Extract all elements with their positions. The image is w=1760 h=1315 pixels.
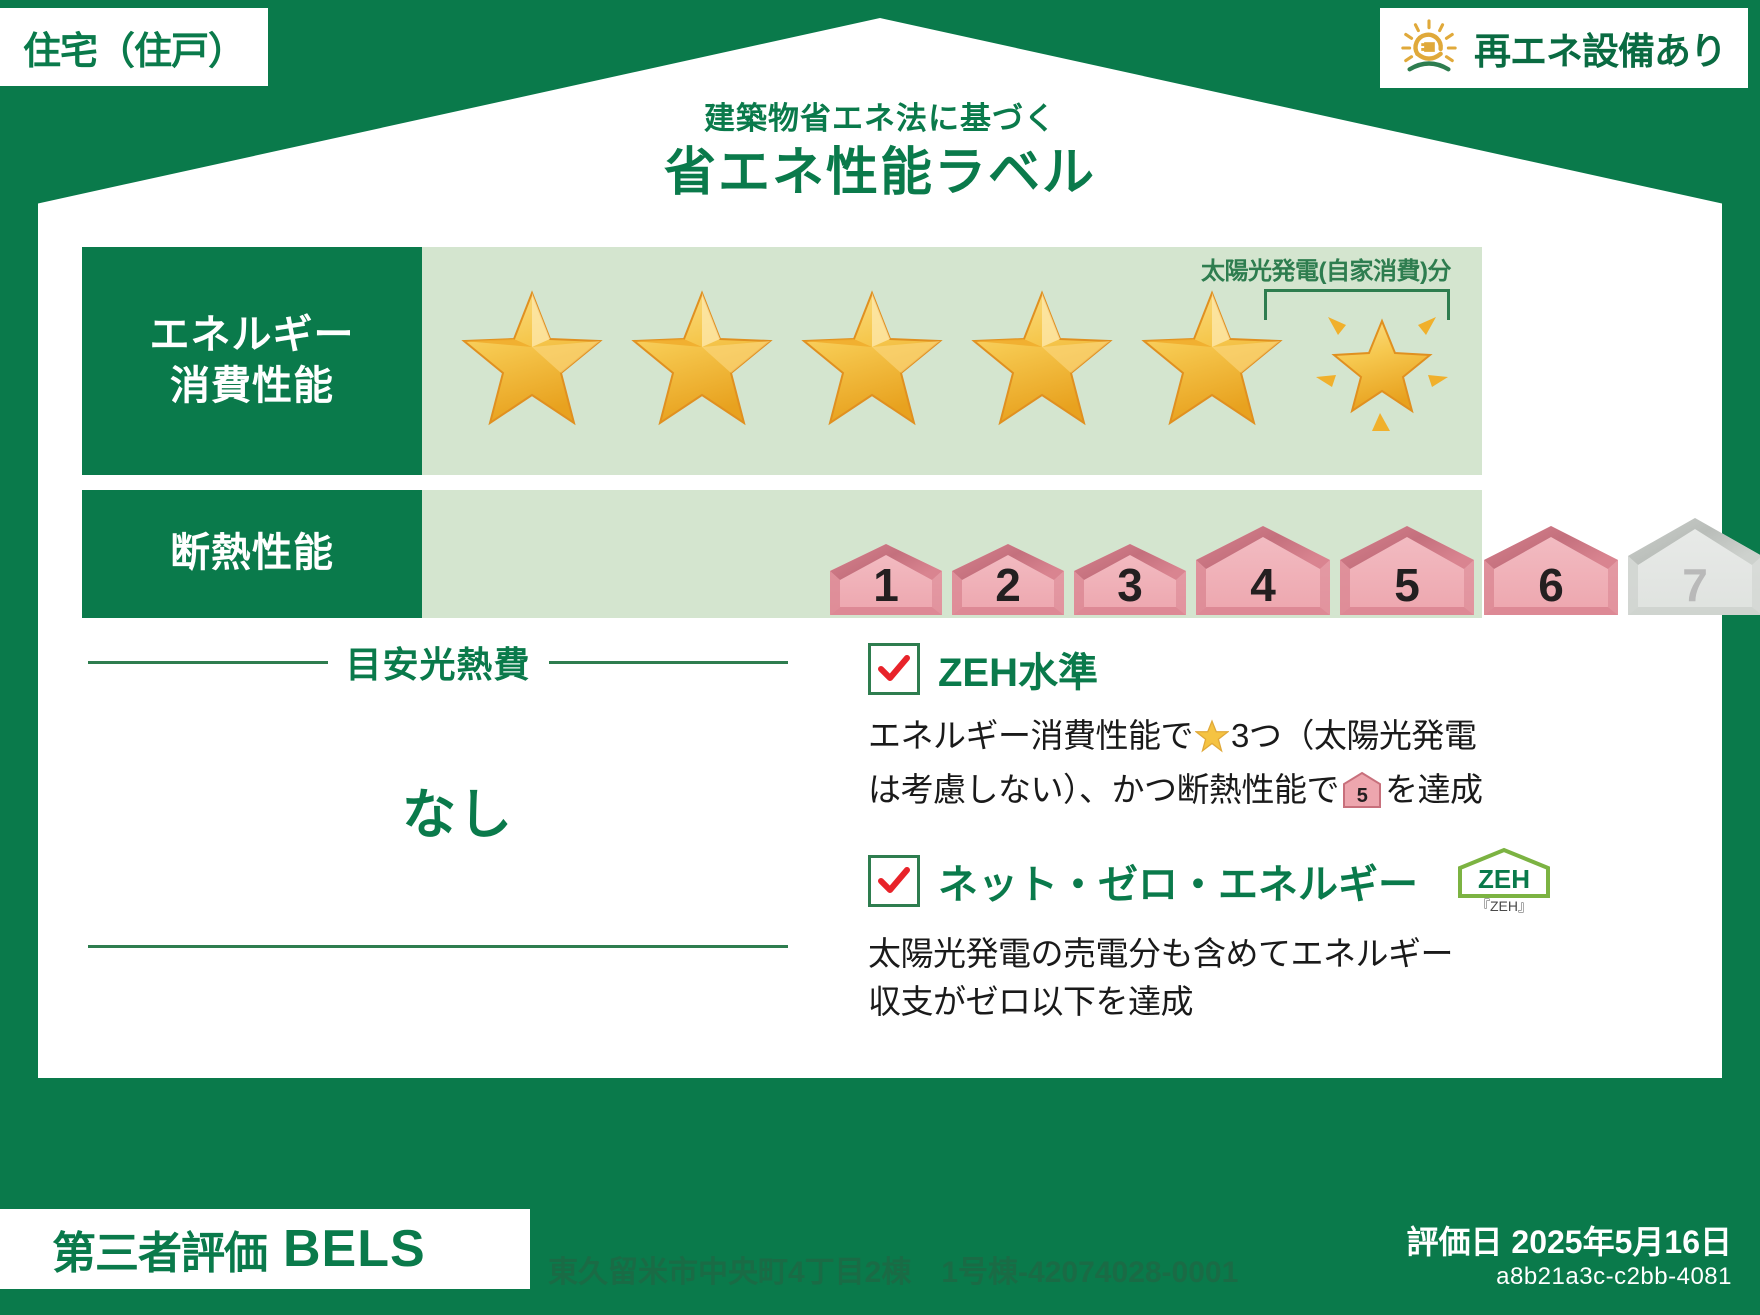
- zeh-standard-row: ZEH水準: [868, 640, 1508, 698]
- utility-cost-bottom-rule: [88, 945, 788, 948]
- star-3: [792, 281, 952, 441]
- net-zero-title: ネット・ゼロ・エネルギー: [938, 852, 1418, 910]
- insulation-level-2: 2: [949, 540, 1067, 618]
- insulation-level-7: 7: [1625, 514, 1760, 618]
- zeh-logo-caption: 『ZEH』: [1476, 896, 1532, 916]
- insulation-level-number: 1: [827, 558, 945, 612]
- net-zero-checkbox[interactable]: [868, 855, 920, 907]
- zeh-desc-line1-a: エネルギー消費性能で: [868, 717, 1193, 754]
- burst-star-icon: [1302, 281, 1462, 441]
- footer: 第三者評価 BELS 東久留米市中央町4丁目2棟 1号棟-42074028-00…: [0, 1165, 1760, 1315]
- zeh-standard-description: エネルギー消費性能で3つ（太陽光発電 は考慮しない）、かつ断熱性能で5を達成: [868, 712, 1508, 822]
- inline-house-badge: 5: [1342, 771, 1382, 822]
- insulation-level-number: 5: [1337, 558, 1477, 612]
- evaluation-date: 評価日 2025年5月16日: [1407, 1217, 1732, 1263]
- property-address: 東久留米市中央町4丁目2棟 1号棟-42074028-0001: [548, 1247, 1238, 1291]
- label-title-block: 建築物省エネ法に基づく 省エネ性能ラベル: [0, 100, 1760, 206]
- bels-label: BELS: [283, 1219, 426, 1279]
- zeh-logo: ZEH 『ZEH』: [1452, 846, 1556, 916]
- energy-label-line1: エネルギー: [150, 310, 355, 361]
- zeh-desc-line2-b: を達成: [1385, 771, 1483, 808]
- utility-cost-value: なし: [88, 770, 788, 849]
- star-1: [452, 281, 612, 441]
- insulation-performance-row: 断熱性能 1234567: [82, 490, 1482, 618]
- net-zero-desc-line1: 太陽光発電の売電分も含めてエネルギー: [868, 935, 1453, 972]
- net-zero-energy-row: ネット・ゼロ・エネルギー ZEH 『ZEH』: [868, 846, 1508, 916]
- zeh-standard-title: ZEH水準: [938, 640, 1098, 698]
- renewable-equipment-badge: 再エネ設備あり: [1380, 8, 1748, 88]
- sun-plug-icon: [1398, 17, 1460, 79]
- page-title: 省エネ性能ラベル: [0, 141, 1760, 206]
- energy-performance-row: エネルギー 消費性能 太陽光発電(自家消費)分: [82, 247, 1482, 475]
- star-icon: [792, 281, 952, 441]
- insulation-performance-label: 断熱性能: [82, 490, 422, 618]
- utility-cost-title: 目安光熱費: [328, 636, 549, 688]
- renewable-badge-label: 再エネ設備あり: [1474, 21, 1726, 75]
- insulation-level-number: 2: [949, 558, 1067, 612]
- solar-bonus-star: [1302, 281, 1462, 441]
- category-badge: 住宅（住戸）: [0, 8, 268, 86]
- star-icon: [622, 281, 782, 441]
- insulation-level-group: 1234567: [442, 490, 1472, 618]
- zeh-criteria-block: ZEH水準 エネルギー消費性能で3つ（太陽光発電 は考慮しない）、かつ断熱性能で…: [868, 640, 1508, 1025]
- utility-cost-header: 目安光熱費: [88, 636, 788, 688]
- insulation-level-1: 1: [827, 540, 945, 618]
- star-4: [962, 281, 1122, 441]
- zeh-desc-line1-b: 3つ（太陽光発電: [1231, 717, 1476, 754]
- bels-badge: 第三者評価 BELS: [0, 1209, 530, 1289]
- star-icon: [1132, 281, 1292, 441]
- insulation-level-number: 4: [1193, 558, 1333, 612]
- zeh-standard-checkbox[interactable]: [868, 643, 920, 695]
- insulation-level-3: 3: [1071, 540, 1189, 618]
- inline-house-number: 5: [1357, 785, 1368, 807]
- star-icon: [452, 281, 612, 441]
- energy-label-line2: 消費性能: [170, 361, 334, 412]
- star-rating-group: [452, 281, 1472, 441]
- insulation-level-4: 4: [1193, 522, 1333, 618]
- insulation-level-number: 6: [1481, 558, 1621, 612]
- insulation-level-6: 6: [1481, 522, 1621, 618]
- star-icon: [962, 281, 1122, 441]
- net-zero-desc-line2: 収支がゼロ以下を達成: [868, 983, 1193, 1020]
- check-icon: [876, 863, 912, 899]
- star-2: [622, 281, 782, 441]
- check-icon: [876, 651, 912, 687]
- insulation-label-text: 断熱性能: [170, 528, 334, 579]
- energy-performance-field: 太陽光発電(自家消費)分: [422, 247, 1482, 475]
- inline-star-icon: [1195, 718, 1229, 766]
- insulation-performance-field: 1234567: [422, 490, 1482, 618]
- divider-right: [549, 661, 789, 664]
- zeh-desc-line2-a: は考慮しない）、かつ断熱性能で: [868, 771, 1339, 808]
- zeh-logo-text: ZEH: [1478, 864, 1530, 894]
- evaluation-id: a8b21a3c-c2bb-4081: [1496, 1263, 1732, 1291]
- utility-cost-block: 目安光熱費 なし: [88, 636, 788, 948]
- category-badge-label: 住宅（住戸）: [23, 20, 245, 75]
- net-zero-description: 太陽光発電の売電分も含めてエネルギー 収支がゼロ以下を達成: [868, 930, 1508, 1026]
- insulation-level-number: 3: [1071, 558, 1189, 612]
- divider-left: [88, 661, 328, 664]
- energy-performance-label: エネルギー 消費性能: [82, 247, 422, 475]
- title-subtitle: 建築物省エネ法に基づく: [0, 100, 1760, 137]
- insulation-level-number: 7: [1625, 558, 1760, 612]
- insulation-level-5: 5: [1337, 522, 1477, 618]
- third-party-label: 第三者評価: [52, 1217, 267, 1281]
- star-5: [1132, 281, 1292, 441]
